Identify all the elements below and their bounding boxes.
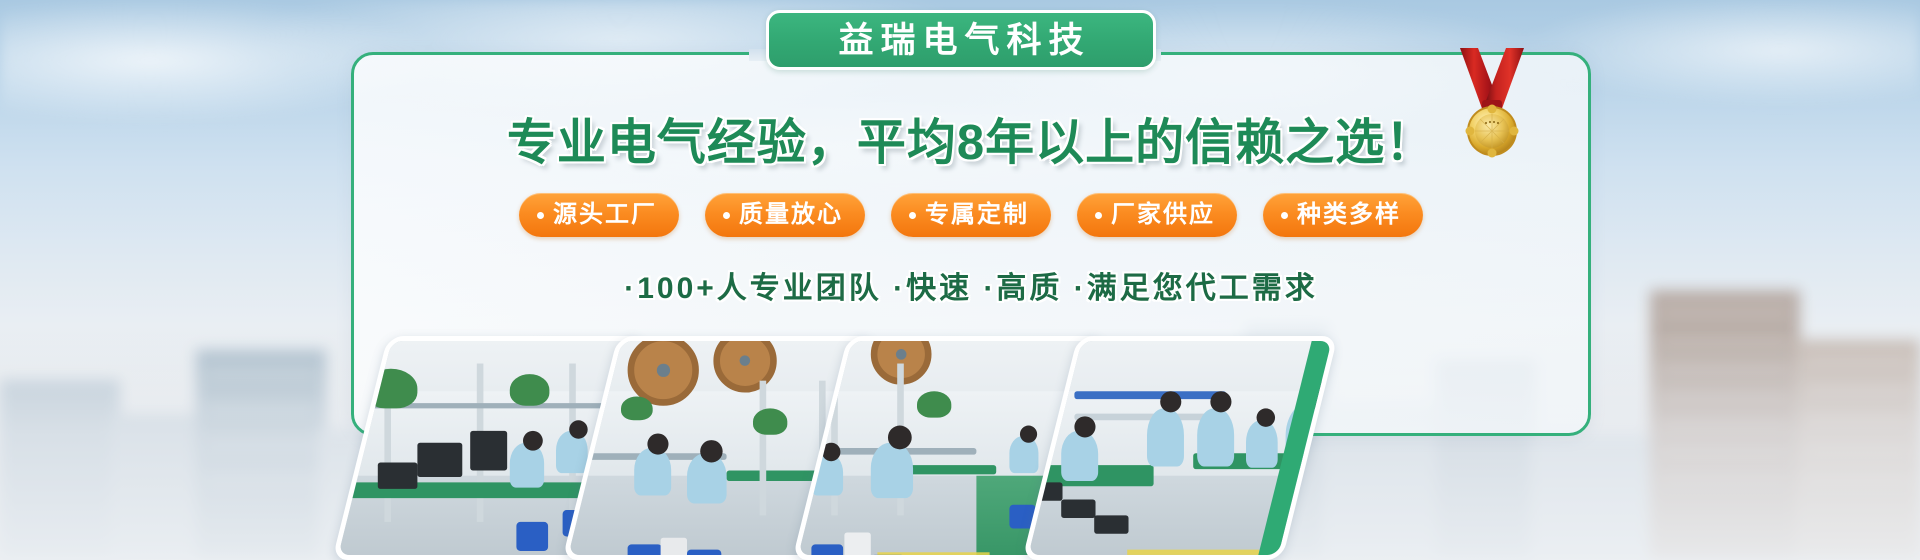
gold-medal-icon	[1452, 48, 1532, 163]
bullet-dot-icon	[1095, 212, 1102, 219]
headline-text: 专业电气经验，平均8年以上的信赖之选！	[351, 103, 1591, 174]
feature-pill-0[interactable]: 源头工厂	[519, 193, 679, 237]
feature-pill-3[interactable]: 厂家供应	[1077, 193, 1237, 237]
photo-thumbnail-3[interactable]	[1022, 336, 1338, 560]
bullet-dot-icon	[723, 212, 730, 219]
subtitle-text: ·100+人专业团队 ·快速 ·高质 ·满足您代工需求	[351, 263, 1591, 307]
company-title-badge: 益瑞电气科技	[766, 10, 1156, 70]
bullet-dot-icon	[1281, 212, 1288, 219]
feature-pill-1[interactable]: 质量放心	[705, 193, 865, 237]
feature-pill-label: 专属定制	[925, 203, 1029, 227]
company-title-text: 益瑞电气科技	[831, 23, 1090, 58]
feature-pill-4[interactable]: 种类多样	[1263, 193, 1423, 237]
feature-pill-label: 质量放心	[739, 203, 843, 227]
feature-pill-2[interactable]: 专属定制	[891, 193, 1051, 237]
feature-pill-label: 厂家供应	[1111, 203, 1215, 227]
photo-strip	[320, 336, 1620, 560]
bullet-dot-icon	[537, 212, 544, 219]
feature-pill-label: 种类多样	[1297, 203, 1401, 227]
feature-pill-label: 源头工厂	[553, 203, 657, 227]
promo-banner: 益瑞电气科技 专业电气经验，平均8年以上的信赖之选！	[0, 0, 1920, 560]
bullet-dot-icon	[909, 212, 916, 219]
feature-pill-row: 源头工厂 质量放心 专属定制 厂家供应 种类多样	[351, 190, 1591, 240]
